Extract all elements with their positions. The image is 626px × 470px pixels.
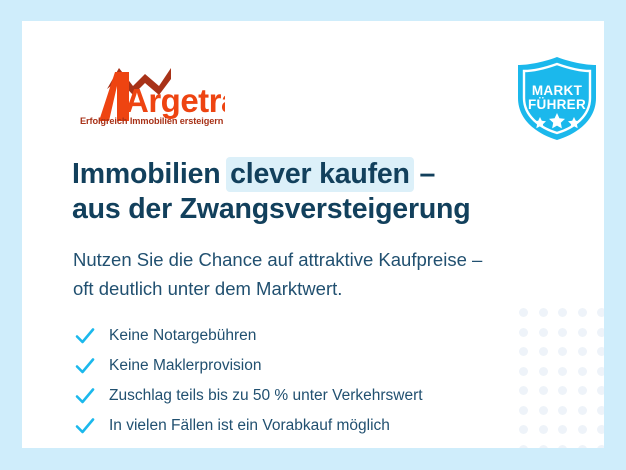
subheading-line-1: Nutzen Sie die Chance auf attraktive Kau… bbox=[73, 245, 543, 274]
list-item: Keine Maklerprovision bbox=[74, 351, 514, 381]
decoration-dot bbox=[539, 386, 548, 395]
argetra-logo: Argetra Erfolgreich Immobilien ersteiger… bbox=[79, 64, 225, 126]
decoration-dot bbox=[519, 308, 528, 317]
decoration-dot bbox=[558, 406, 567, 415]
list-item: In vielen Fällen ist ein Vorabkauf mögli… bbox=[74, 411, 514, 441]
decoration-dot bbox=[539, 406, 548, 415]
headline-highlight: clever kaufen bbox=[226, 157, 414, 192]
decoration-dot bbox=[578, 367, 587, 376]
decoration-dot bbox=[578, 406, 587, 415]
promo-card: Argetra Erfolgreich Immobilien ersteiger… bbox=[22, 21, 604, 448]
decoration-dot bbox=[578, 445, 587, 449]
decoration-dot bbox=[558, 367, 567, 376]
list-item: Zuschlag teils bis zu 50 % unter Verkehr… bbox=[74, 381, 514, 411]
decoration-dot bbox=[597, 425, 604, 434]
decoration-dot bbox=[558, 425, 567, 434]
benefits-list: Keine Notargebühren Keine Maklerprovisio… bbox=[74, 321, 514, 441]
list-item-label: In vielen Fällen ist ein Vorabkauf mögli… bbox=[109, 415, 390, 437]
decoration-dot bbox=[597, 308, 604, 317]
decoration-dot bbox=[519, 328, 528, 337]
subheading: Nutzen Sie die Chance auf attraktive Kau… bbox=[73, 245, 543, 303]
decoration-dot bbox=[597, 406, 604, 415]
decoration-dot bbox=[519, 406, 528, 415]
decoration-dot bbox=[597, 445, 604, 449]
logo-tagline: Erfolgreich Immobilien ersteigern bbox=[80, 116, 224, 126]
list-item-label: Keine Notargebühren bbox=[109, 325, 256, 347]
headline-line-1: Immobilien clever kaufen – bbox=[72, 157, 542, 192]
decoration-dot bbox=[539, 425, 548, 434]
list-item: Keine Notargebühren bbox=[74, 321, 514, 351]
subheading-line-2: oft deutlich unter dem Marktwert. bbox=[73, 274, 543, 303]
headline-suffix: – bbox=[412, 158, 435, 190]
decoration-dot bbox=[558, 328, 567, 337]
decoration-dot bbox=[597, 367, 604, 376]
decoration-dot bbox=[558, 445, 567, 449]
check-icon bbox=[74, 385, 96, 407]
decoration-dot bbox=[519, 347, 528, 356]
decoration-dot bbox=[597, 347, 604, 356]
decoration-dot bbox=[597, 386, 604, 395]
headline-prefix: Immobilien bbox=[72, 158, 228, 190]
decoration-dot bbox=[578, 328, 587, 337]
headline: Immobilien clever kaufen – aus der Zwang… bbox=[72, 157, 542, 227]
decoration-dot bbox=[597, 328, 604, 337]
badge-line2: FÜHRER bbox=[528, 97, 586, 112]
decoration-dot bbox=[558, 347, 567, 356]
decoration-dot bbox=[558, 386, 567, 395]
decoration-dot bbox=[539, 367, 548, 376]
headline-line-2: aus der Zwangsversteigerung bbox=[72, 192, 542, 227]
check-icon bbox=[74, 325, 96, 347]
decoration-dot bbox=[578, 386, 587, 395]
list-item-label: Zuschlag teils bis zu 50 % unter Verkehr… bbox=[109, 385, 423, 407]
decoration-dot bbox=[539, 308, 548, 317]
decoration-dot bbox=[519, 367, 528, 376]
markt-fuehrer-badge: MARKT FÜHRER bbox=[513, 54, 601, 142]
check-icon bbox=[74, 415, 96, 437]
dot-grid-decoration bbox=[519, 308, 604, 448]
decoration-dot bbox=[519, 425, 528, 434]
decoration-dot bbox=[578, 347, 587, 356]
decoration-dot bbox=[539, 347, 548, 356]
logo-wordmark: Argetra bbox=[125, 82, 225, 119]
decoration-dot bbox=[519, 445, 528, 449]
check-icon bbox=[74, 355, 96, 377]
list-item-label: Keine Maklerprovision bbox=[109, 355, 262, 377]
badge-line1: MARKT bbox=[532, 83, 583, 98]
page-frame: Argetra Erfolgreich Immobilien ersteiger… bbox=[0, 0, 626, 470]
decoration-dot bbox=[578, 308, 587, 317]
decoration-dot bbox=[539, 328, 548, 337]
decoration-dot bbox=[578, 425, 587, 434]
decoration-dot bbox=[519, 386, 528, 395]
decoration-dot bbox=[558, 308, 567, 317]
decoration-dot bbox=[539, 445, 548, 449]
